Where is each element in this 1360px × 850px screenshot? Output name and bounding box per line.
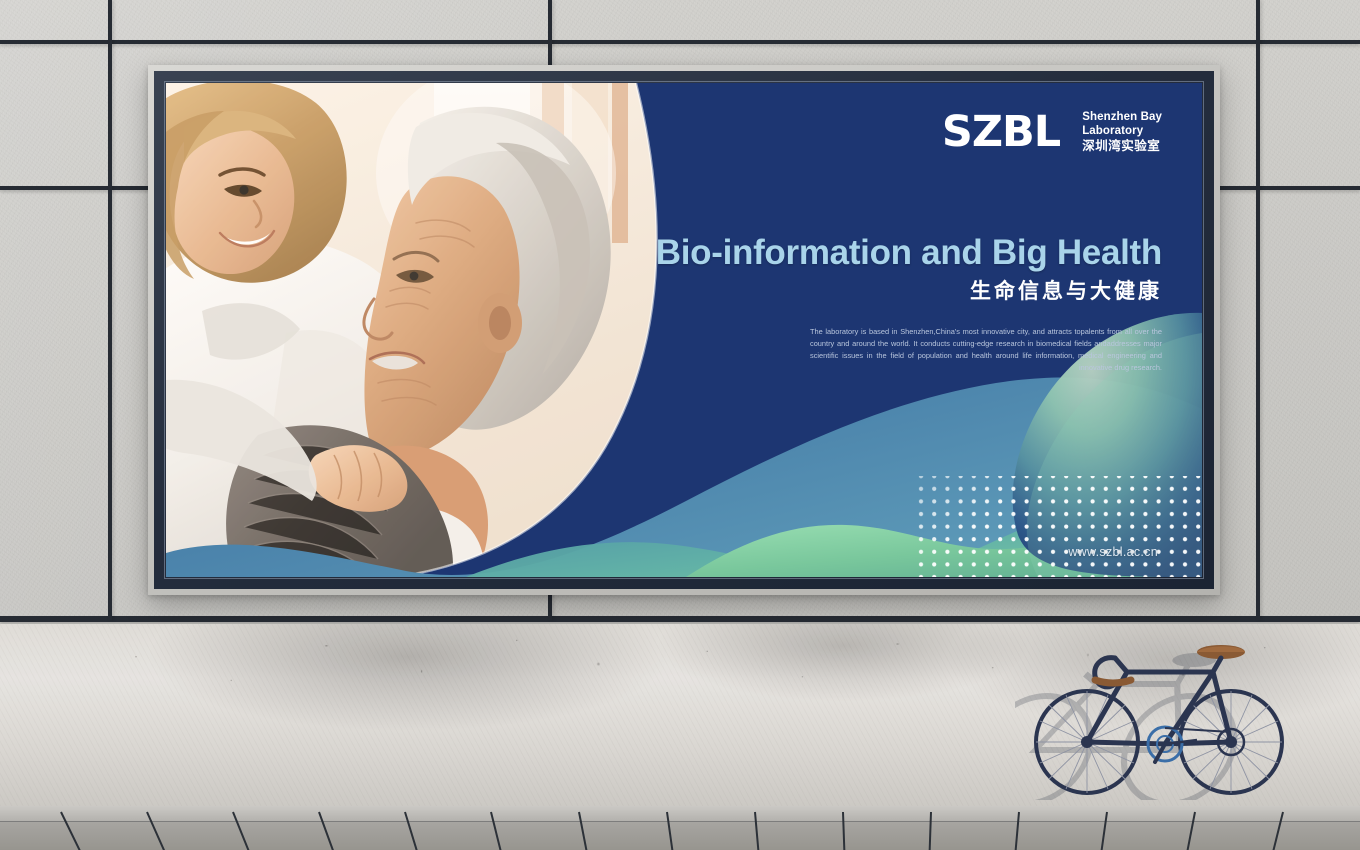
wall-seam-horizontal-3 (0, 616, 1360, 622)
pavement-far-band (0, 806, 1360, 822)
wall-seam-vertical-1 (108, 0, 112, 620)
pavement-seam-line (0, 821, 1360, 822)
wall-seam-horizontal-1 (0, 40, 1360, 44)
wall-seam-vertical-3 (1256, 0, 1260, 620)
billboard-inner-hairline (164, 81, 1204, 579)
bicycle (1015, 628, 1305, 800)
scene: SZBL Shenzhen Bay Laboratory 深圳湾实验室 Bio-… (0, 0, 1360, 850)
pavement (0, 806, 1360, 850)
bike-grip (1095, 680, 1131, 683)
